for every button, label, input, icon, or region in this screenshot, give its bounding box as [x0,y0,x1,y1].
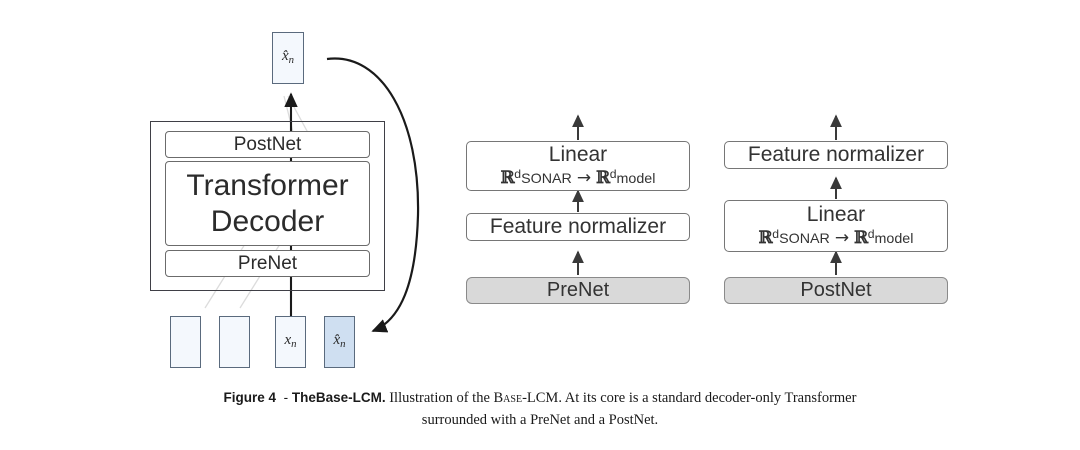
postnet-linear-math: ℝdSONAR→ℝdmodel [759,227,914,249]
caption-part1: Illustration of the [389,390,493,406]
prenet-linear-math: ℝdSONAR→ℝdmodel [501,167,656,189]
caption-part2: . At its core is a standard decoder-only… [558,390,856,406]
postnet-base-label: PostNet [800,280,871,301]
inner-transformer-decoder-block: Transformer Decoder [165,161,370,246]
postnet-linear-box: Linear ℝdSONAR→ℝdmodel [724,200,948,252]
output-token-xhat-n: x̂n [272,32,304,84]
postnet-base-box: PostNet [724,277,948,304]
prenet-feature-normalizer-box: Feature normalizer [466,213,690,241]
caption-line2: surrounded with a PreNet and a PostNet. [422,412,658,428]
input-token-empty-2 [219,316,250,368]
postnet-feature-normalizer-label: Feature normalizer [748,143,924,166]
prenet-feature-normalizer-label: Feature normalizer [490,215,666,238]
inner-prenet-block: PreNet [165,250,370,277]
input-token-xhat-n: x̂n [324,316,355,368]
prenet-linear-box: Linear ℝdSONAR→ℝdmodel [466,141,690,191]
prenet-linear-label: Linear [549,143,607,166]
caption-smallcaps-base-lcm: Base-LCM [494,390,559,406]
postnet-feature-normalizer-box: Feature normalizer [724,141,948,169]
figure-label: Figure 4 [224,390,277,405]
decoder-label-line2: Decoder [211,204,324,239]
prenet-base-label: PreNet [547,280,609,301]
output-token-label: x̂n [282,49,294,67]
input-token-xhat-n-label: x̂n [333,333,345,351]
postnet-linear-label: Linear [807,203,865,226]
inner-prenet-label: PreNet [238,254,297,274]
inner-postnet-label: PostNet [234,135,302,155]
prenet-base-box: PreNet [466,277,690,304]
figure-caption: Figure 4 - TheBase-LCM. Illustration of … [68,387,1012,432]
input-token-empty-1 [170,316,201,368]
inner-postnet-block: PostNet [165,131,370,158]
input-token-x-n: xn [275,316,306,368]
figure-4-base-lcm: x̂n PostNet Transformer Decoder PreNet x… [0,0,1080,450]
decoder-label-line1: Transformer [186,168,348,203]
figure-title: TheBase-LCM. [292,390,386,405]
input-token-x-n-label: xn [284,333,296,351]
